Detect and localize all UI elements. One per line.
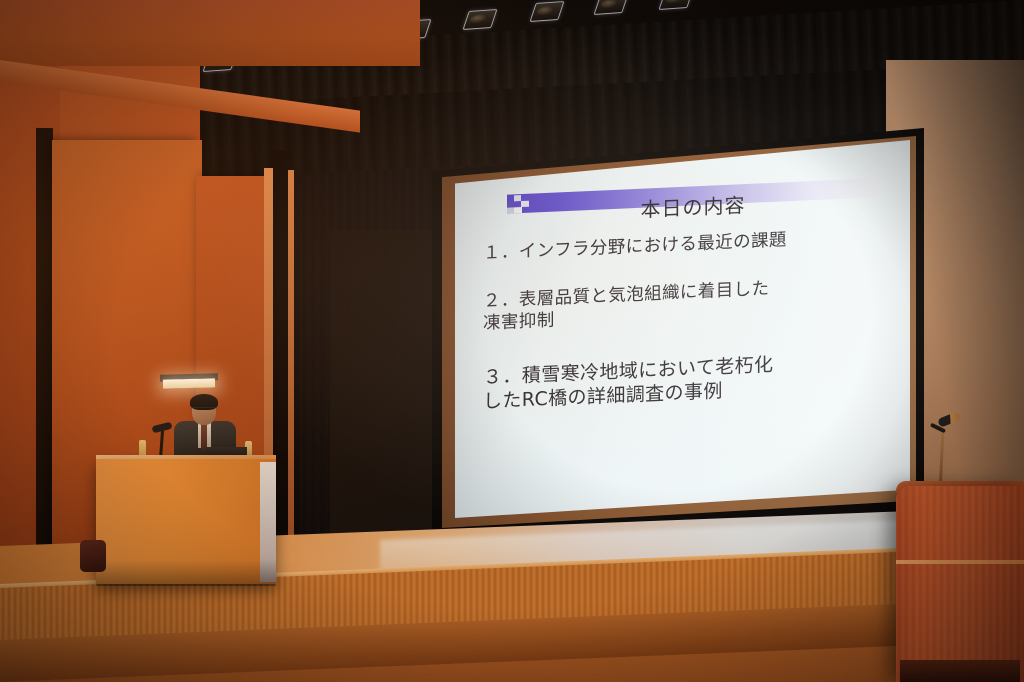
podium-reading-lamp bbox=[163, 378, 215, 388]
slide-bullet-3: ３．積雪寒冷地域において老朽化 したRC橋の詳細調査の事例 bbox=[483, 349, 883, 415]
wooden-lectern bbox=[896, 486, 1024, 682]
slide-bullet-1: １．インフラ分野における最近の課題 bbox=[483, 225, 883, 265]
lectern-base bbox=[900, 660, 1020, 682]
slide-bullet-2-line1: ２．表層品質と気泡組織に着目した bbox=[483, 279, 769, 312]
wall-recess-gap bbox=[36, 128, 53, 583]
slide-bullet-1-text: １．インフラ分野における最近の課題 bbox=[483, 230, 787, 264]
bag-on-floor bbox=[80, 540, 106, 572]
pillar-edge-highlight-secondary bbox=[288, 170, 294, 562]
presentation-slide: 本日の内容 １．インフラ分野における最近の課題 ２．表層品質と気泡組織に着目した… bbox=[455, 140, 910, 518]
speaker-podium-shadow bbox=[96, 560, 276, 586]
slide-bullet-2-line2: 凍害抑制 bbox=[483, 311, 555, 334]
ceiling-soffit bbox=[0, 0, 420, 66]
lectern-trim-band bbox=[896, 560, 1024, 564]
slide-bullet-2: ２．表層品質と気泡組織に着目した 凍害抑制 bbox=[483, 273, 883, 335]
lecture-hall-photo: 本日の内容 １．インフラ分野における最近の課題 ２．表層品質と気泡組織に着目した… bbox=[0, 0, 1024, 682]
presenter-glasses bbox=[193, 407, 215, 413]
